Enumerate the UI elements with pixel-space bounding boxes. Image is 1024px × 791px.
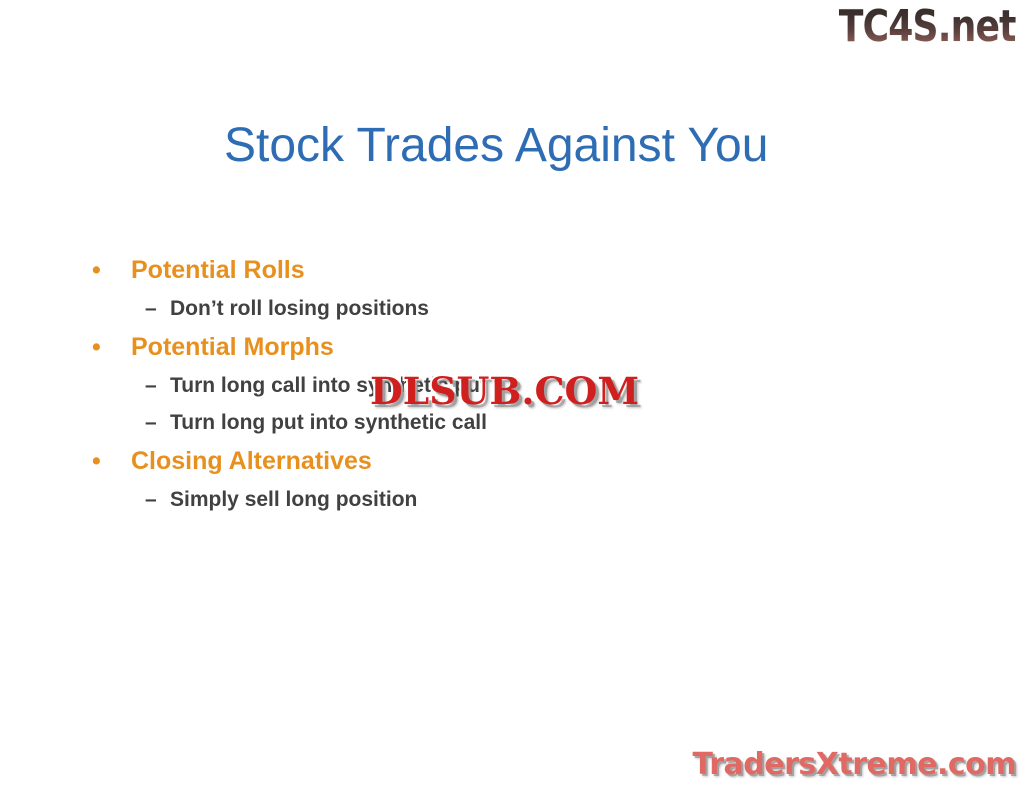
dlsub-watermark: DLSUB.COM <box>370 370 639 412</box>
dash-marker-icon: – <box>145 295 170 322</box>
dash-marker-icon: – <box>145 409 170 436</box>
presentation-slide: TC4S.net Stock Trades Against You • Pote… <box>0 0 1024 791</box>
bullet-dot-icon: • <box>92 255 131 285</box>
bullet-item-level1-label: Potential Morphs <box>131 332 334 362</box>
bullet-item-level2-label: Don’t roll losing positions <box>170 295 429 322</box>
dash-marker-icon: – <box>145 486 170 513</box>
bullet-item-level1: • Potential Morphs <box>92 332 912 362</box>
bullet-group: • Potential Rolls – Don’t roll losing po… <box>92 255 912 322</box>
bullet-item-level1-label: Potential Rolls <box>131 255 305 285</box>
bullet-group: • Closing Alternatives – Simply sell lon… <box>92 446 912 513</box>
bullet-dot-icon: • <box>92 332 131 362</box>
bullet-item-level1-label: Closing Alternatives <box>131 446 372 476</box>
bullet-dot-icon: • <box>92 446 131 476</box>
tc4s-brand-logo: TC4S.net <box>839 2 1016 52</box>
bullet-item-level2: – Turn long put into synthetic call <box>145 409 912 436</box>
bullet-item-level1: • Potential Rolls <box>92 255 912 285</box>
dash-marker-icon: – <box>145 372 170 399</box>
bullet-item-level2: – Don’t roll losing positions <box>145 295 912 322</box>
bullet-item-level2-label: Simply sell long position <box>170 486 417 513</box>
bullet-item-level2-label: Turn long put into synthetic call <box>170 409 487 436</box>
bullet-item-level1: • Closing Alternatives <box>92 446 912 476</box>
bullet-item-level2: – Simply sell long position <box>145 486 912 513</box>
page-title: Stock Trades Against You <box>224 118 768 173</box>
tradersxtreme-footer-logo: TradersXtreme.com <box>693 747 1016 783</box>
